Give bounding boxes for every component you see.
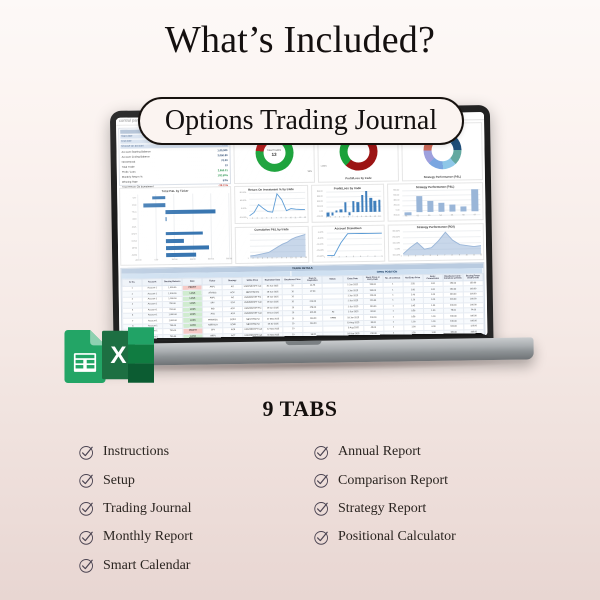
bar (344, 203, 347, 213)
axis-tick-label: S7 (474, 214, 476, 216)
axis-tick-label: 5 (267, 258, 268, 260)
axis-tick-label: 3 (335, 216, 336, 218)
checklist-item-strategy-report: Strategy Report (313, 495, 548, 523)
check-circle-icon (313, 444, 330, 461)
trade-details-table: Sr No.AccountStarting BalanceNoteTickerS… (122, 273, 485, 341)
axis-tick-label: 10 (290, 217, 292, 219)
axis-tick-label: 0.00% (318, 231, 323, 233)
bar (340, 209, 342, 212)
axis-tick-label: 600.00 (208, 258, 214, 260)
bar (153, 196, 166, 200)
chart-title: Cumulative P&L by trade (236, 227, 308, 232)
chart-series-path (326, 231, 382, 256)
check-circle-icon (78, 444, 95, 461)
chart-title: Profit/Loss by trade (312, 185, 384, 190)
bar (335, 210, 337, 212)
axis-tick-label: 7 (444, 255, 445, 257)
axis-tick-label: 10 (466, 254, 468, 256)
check-circle-icon (78, 529, 95, 546)
chart-x-axis: S1S2S3S4S5S6S7 (401, 214, 481, 220)
axis-tick-label: 12 (300, 257, 302, 259)
chart-plot-area (137, 193, 229, 259)
chart-x-axis: 12345678910111213 (248, 216, 306, 222)
axis-tick-label: 200.00% (392, 236, 399, 238)
axis-tick-label: 4 (262, 258, 263, 260)
axis-tick-label: -200.00 (317, 215, 323, 217)
kpi-metric-label: Monthly Return % (122, 176, 143, 181)
axis-tick-label: 3 (257, 217, 258, 219)
bar (416, 196, 422, 212)
axis-tick-label: 5 (353, 256, 354, 258)
bar (449, 204, 455, 211)
bar (361, 195, 364, 212)
chart-account-drawdown: Account Drawdown 0.00%-5.00%-10.00%-15.0… (311, 224, 385, 263)
axis-tick-label: 5 (266, 217, 267, 219)
kpi-filter-label: Choose an account (121, 144, 143, 149)
page-title: What’s Included? (0, 18, 600, 62)
axis-tick-label: 12 (299, 216, 301, 218)
chart-plot-area (326, 191, 382, 216)
product-title-text: Options Trading Journal (165, 105, 437, 137)
axis-tick-label: 300.00% (392, 230, 399, 232)
chart-y-axis: 80.00%40.00%0.00%-40.00% (235, 193, 247, 218)
axis-tick-label: S5 (451, 214, 453, 216)
check-circle-icon (313, 500, 330, 517)
checklist-item-instructions: Instructions (78, 438, 313, 466)
checklist-item-label: Setup (103, 473, 135, 489)
check-circle-icon (313, 472, 330, 489)
axis-tick-label: 12 (480, 254, 482, 256)
axis-tick-label: 600.00 (393, 194, 399, 196)
checklist-item-label: Smart Calendar (103, 558, 190, 574)
check-circle-icon (313, 529, 330, 546)
kpi-metric-label: Total Trade (122, 166, 135, 171)
checklist-item-annual-report: Annual Report (313, 438, 548, 466)
axis-tick-label: 7 (367, 256, 368, 258)
charts-column-right: Strategy Performance (P&L) 800.00600.004… (387, 182, 484, 261)
axis-tick-label: 6 (272, 257, 273, 259)
axis-tick-label: QQQ (132, 204, 136, 206)
chart-cumulative-pnl: Cumulative P&L by trade 1234567891011121… (235, 225, 309, 264)
bar (471, 189, 478, 211)
axis-tick-label: 4 (422, 255, 423, 257)
donut-title: Profit/Loss by trade (319, 175, 398, 180)
bar (369, 198, 372, 212)
check-circle-icon (313, 529, 330, 546)
axis-tick-label: 13 (378, 215, 380, 217)
bar (357, 202, 360, 212)
checklist-item-label: Trading Journal (103, 501, 192, 517)
chart-series-path (250, 232, 306, 257)
axis-tick-label: 4 (261, 217, 262, 219)
axis-tick-label: AAPL (132, 226, 137, 228)
bar (331, 213, 333, 216)
checklist-item-label: Instructions (103, 444, 169, 460)
svg-text:X: X (110, 342, 126, 369)
axis-tick-label: S6 (462, 214, 464, 216)
axis-tick-label: 1 (247, 217, 248, 219)
chart-title: Strategy Performance (ROI) (389, 224, 483, 229)
axis-tick-label: 5 (430, 255, 431, 257)
axis-tick-label: 1 (326, 216, 327, 218)
axis-tick-label: 11 (473, 254, 475, 256)
chart-x-axis: 123456789 (325, 256, 383, 262)
axis-tick-label: 9 (286, 257, 287, 259)
axis-tick-label: S3 (428, 214, 430, 216)
axis-tick-label: 200.00 (172, 259, 178, 261)
bar (427, 200, 433, 212)
axis-tick-label: -200.00 (393, 214, 399, 216)
checklist-item-comparison-report: Comparison Report (313, 466, 548, 494)
axis-tick-label: 7 (352, 216, 353, 218)
checklist-item-label: Comparison Report (338, 473, 448, 489)
axis-tick-label: -200.00 (135, 259, 141, 261)
axis-tick-label: 7 (276, 217, 277, 219)
axis-tick-label: 11 (294, 217, 296, 219)
chart-strategy-performance-pnl: Strategy Performance (P&L) 800.00600.004… (387, 182, 484, 221)
axis-tick-label: 80.00% (240, 192, 246, 194)
checklist-item-setup: Setup (78, 466, 313, 494)
axis-tick-label: 9 (285, 217, 286, 219)
chart-total-pnl-by-ticker: Total P&L by Ticker SPYQQQTSLAAMDAAPLMSF… (119, 186, 232, 266)
axis-tick-label: 1 (401, 255, 402, 257)
dashboard-row-charts: Total P&L by Ticker SPYQQQTSLAAMDAAPLMSF… (119, 182, 484, 266)
bar (166, 246, 209, 250)
chart-series-path (249, 192, 305, 217)
axis-tick-label: -15.00% (317, 250, 324, 252)
kpi-filter-label: End date (121, 140, 131, 145)
axis-tick-label: 6 (360, 256, 361, 258)
axis-tick-label: 800.00 (393, 189, 399, 191)
kpi-filter-label: Start date (121, 135, 132, 140)
axis-tick-label: 6 (348, 216, 349, 218)
axis-tick-label: 8 (357, 216, 358, 218)
bar (166, 253, 196, 257)
check-circle-icon (78, 500, 95, 517)
axis-tick-label: 5 (343, 216, 344, 218)
chart-title: Strategy Performance (P&L) (388, 184, 482, 189)
axis-tick-label: -10.00% (316, 243, 323, 245)
chart-plot-area (402, 189, 480, 215)
chart-title: Return On Investment % by trade (235, 186, 307, 191)
axis-tick-label: SPY (132, 197, 136, 199)
chart-x-axis: 12345678910111213 (248, 257, 306, 263)
chart-plot-area (250, 232, 306, 257)
chart-roi-by-trade: Return On Investment % by trade 80.00%40… (234, 185, 308, 224)
donut-legend-loss: LOSS (321, 166, 327, 168)
bar (165, 209, 215, 214)
axis-tick-label: 13 (305, 257, 307, 259)
check-circle-icon (78, 444, 95, 461)
axis-tick-label: 8 (374, 256, 375, 258)
charts-column-mid-left: Return On Investment % by trade 80.00%40… (234, 185, 309, 264)
chart-y-axis: 800.00600.00400.00200.000.00-200.00 (388, 190, 400, 215)
check-circle-icon (78, 557, 95, 574)
check-circle-icon (78, 529, 95, 546)
axis-tick-label: 100.00% (392, 242, 399, 244)
axis-tick-label: 9 (382, 256, 383, 258)
axis-tick-label: 4 (339, 216, 340, 218)
axis-tick-label: 10 (365, 215, 367, 217)
axis-tick-label: -100.00% (392, 254, 400, 256)
axis-tick-label: 9 (459, 254, 460, 256)
axis-tick-label: 0.00% (395, 248, 400, 250)
axis-tick-label: S1 (405, 215, 407, 217)
axis-tick-label: -40.00% (239, 216, 246, 218)
axis-tick-label: 2 (408, 255, 409, 257)
axis-tick-label: 200.00 (317, 205, 323, 207)
laptop-screen: control panel Start date 1-Jan-2025End d… (116, 112, 487, 342)
checklist-column-left: Instructions Setup Trading Journal Month… (78, 438, 313, 580)
axis-tick-label: 400.00 (317, 200, 323, 202)
axis-tick-label: S4 (439, 214, 441, 216)
check-circle-icon (313, 472, 330, 489)
bar (378, 200, 381, 212)
bar (143, 203, 165, 207)
chart-x-axis: 123456789101112 (401, 254, 481, 260)
check-circle-icon (78, 472, 95, 489)
included-checklist: Instructions Setup Trading Journal Month… (78, 438, 548, 580)
chart-title: Account Drawdown (312, 226, 384, 231)
file-format-icons: X (58, 327, 154, 383)
axis-tick-label: NVDA (132, 240, 137, 242)
axis-tick-label: 11 (369, 215, 371, 217)
axis-tick-label: 1 (324, 257, 325, 259)
checklist-column-right: Annual Report Comparison Report Strategy… (313, 438, 548, 580)
bar (374, 201, 377, 212)
axis-tick-label: 600.00 (317, 196, 323, 198)
charts-column-mid-right: Profit/Loss by trade 800.00600.00400.002… (311, 184, 386, 263)
axis-tick-label: 2 (330, 216, 331, 218)
bar (166, 239, 184, 243)
charts-column-left: Total P&L by Ticker SPYQQQTSLAAMDAAPLMSF… (119, 186, 232, 266)
axis-tick-label: 6 (437, 255, 438, 257)
bar (166, 231, 203, 235)
checklist-item-label: Annual Report (338, 444, 421, 460)
chart-y-axis: 800.00600.00400.00200.000.00-200.00 (312, 192, 324, 217)
axis-tick-label: 6 (271, 217, 272, 219)
axis-tick-label: 2 (331, 256, 332, 258)
bar (352, 201, 355, 212)
bar (461, 207, 467, 212)
axis-tick-label: 3 (415, 255, 416, 257)
chart-plot-area (249, 192, 305, 217)
chart-plot-area (403, 230, 481, 256)
chart-category-axis: SPYQQQTSLAAMDAAPLMSFTNVDAMETAAMZN (120, 195, 138, 260)
axis-tick-label: 2 (252, 258, 253, 260)
chart-y-axis: 0.00%-5.00%-10.00%-15.00%-20.00% (312, 232, 324, 257)
chart-x-axis: 12345678910111213 (324, 215, 382, 221)
axis-tick-label: 4 (346, 256, 347, 258)
checklist-item-positional-calculator: Positional Calculator (313, 523, 548, 551)
kpi-metric-label: Account Ending Balance (122, 156, 150, 161)
axis-tick-label: 2 (252, 217, 253, 219)
axis-tick-label: 8 (281, 257, 282, 259)
checklist-item-label: Positional Calculator (338, 529, 456, 545)
chart-x-axis: -200.000.00200.00400.00600.00800.00 (138, 258, 229, 264)
axis-tick-label: 12 (374, 215, 376, 217)
axis-tick-label: 8 (281, 217, 282, 219)
checklist-item-label: Monthly Report (103, 529, 193, 545)
check-circle-icon (78, 500, 95, 517)
axis-tick-label: 9 (361, 216, 362, 218)
axis-tick-label: S2 (417, 215, 419, 217)
check-circle-icon (313, 500, 330, 517)
microsoft-excel-icon: X (102, 327, 154, 383)
table-body: 1Account-11,000.00PROFITAAPLAOUSD/INR/OP… (122, 281, 484, 341)
google-sheets-icon (64, 330, 106, 383)
axis-tick-label: MSFT (132, 233, 137, 235)
axis-tick-label: 7 (276, 257, 277, 259)
axis-tick-label: 13 (304, 216, 306, 218)
donut-center-value: 13 (255, 152, 293, 158)
axis-tick-label: META (132, 248, 137, 250)
axis-tick-label: 0.00 (319, 210, 323, 212)
axis-tick-label: AMZN (132, 255, 137, 257)
axis-tick-label: 200.00 (394, 204, 400, 206)
chart-plot-area (326, 231, 382, 256)
chart-y-axis (236, 233, 248, 258)
axis-tick-label: 10 (290, 257, 292, 259)
axis-tick-label: 3 (339, 256, 340, 258)
axis-tick-label: 400.00 (190, 259, 196, 261)
checklist-item-trading-journal: Trading Journal (78, 495, 313, 523)
kpi-metric-label: Winning Rate (122, 181, 138, 186)
axis-tick-label: 800.00 (317, 191, 323, 193)
chart-strategy-performance-roi: Strategy Performance (ROI) 300.00%200.00… (388, 223, 485, 262)
spreadsheet-dashboard: control panel Start date 1-Jan-2025End d… (116, 112, 487, 342)
axis-tick-label: AMD (132, 219, 136, 221)
check-circle-icon (78, 557, 95, 574)
check-circle-icon (78, 472, 95, 489)
donut-title: Strategy Performance (P&L) (403, 174, 482, 179)
donut-legend-win: WIN (308, 171, 312, 173)
checklist-item-smart-calendar: Smart Calendar (78, 552, 313, 580)
axis-tick-label: 1 (248, 258, 249, 260)
product-title-badge: Options Trading Journal (138, 97, 464, 145)
axis-tick-label: 8 (452, 255, 453, 257)
tabs-count-heading: 9 TABS (0, 396, 600, 422)
kpi-metric-label: Profit / Loss (122, 171, 136, 176)
axis-tick-label: 11 (295, 257, 297, 259)
checklist-item-label: Strategy Report (338, 501, 426, 517)
axis-tick-label: 0.00% (241, 208, 246, 210)
axis-tick-label: TSLA (132, 212, 137, 214)
axis-tick-label: 400.00 (393, 199, 399, 201)
axis-tick-label: 40.00% (240, 200, 246, 202)
chart-y-axis: 300.00%200.00%100.00%0.00%-100.00% (389, 231, 401, 256)
axis-tick-label: -5.00% (317, 237, 323, 239)
axis-tick-label: -20.00% (317, 256, 324, 258)
chart-series-path (403, 230, 481, 256)
axis-tick-label: 0.00 (155, 259, 159, 261)
axis-tick-label: 800.00 (226, 258, 232, 260)
checklist-item-monthly-report: Monthly Report (78, 523, 313, 551)
chart-profit-loss-by-trade: Profit/Loss by trade 800.00600.00400.002… (311, 184, 385, 223)
bar (438, 203, 444, 212)
check-circle-icon (313, 444, 330, 461)
axis-tick-label: 3 (257, 258, 258, 260)
kpi-metric-label: Net Deposit (122, 161, 136, 166)
donut-center: Total Trades 13 (255, 149, 293, 158)
axis-tick-label: 0.00 (396, 209, 400, 211)
bar (365, 191, 368, 212)
trade-details-table-panel: TRADE DETAILS OPEN POSITION Sr No.Accoun… (120, 262, 485, 341)
